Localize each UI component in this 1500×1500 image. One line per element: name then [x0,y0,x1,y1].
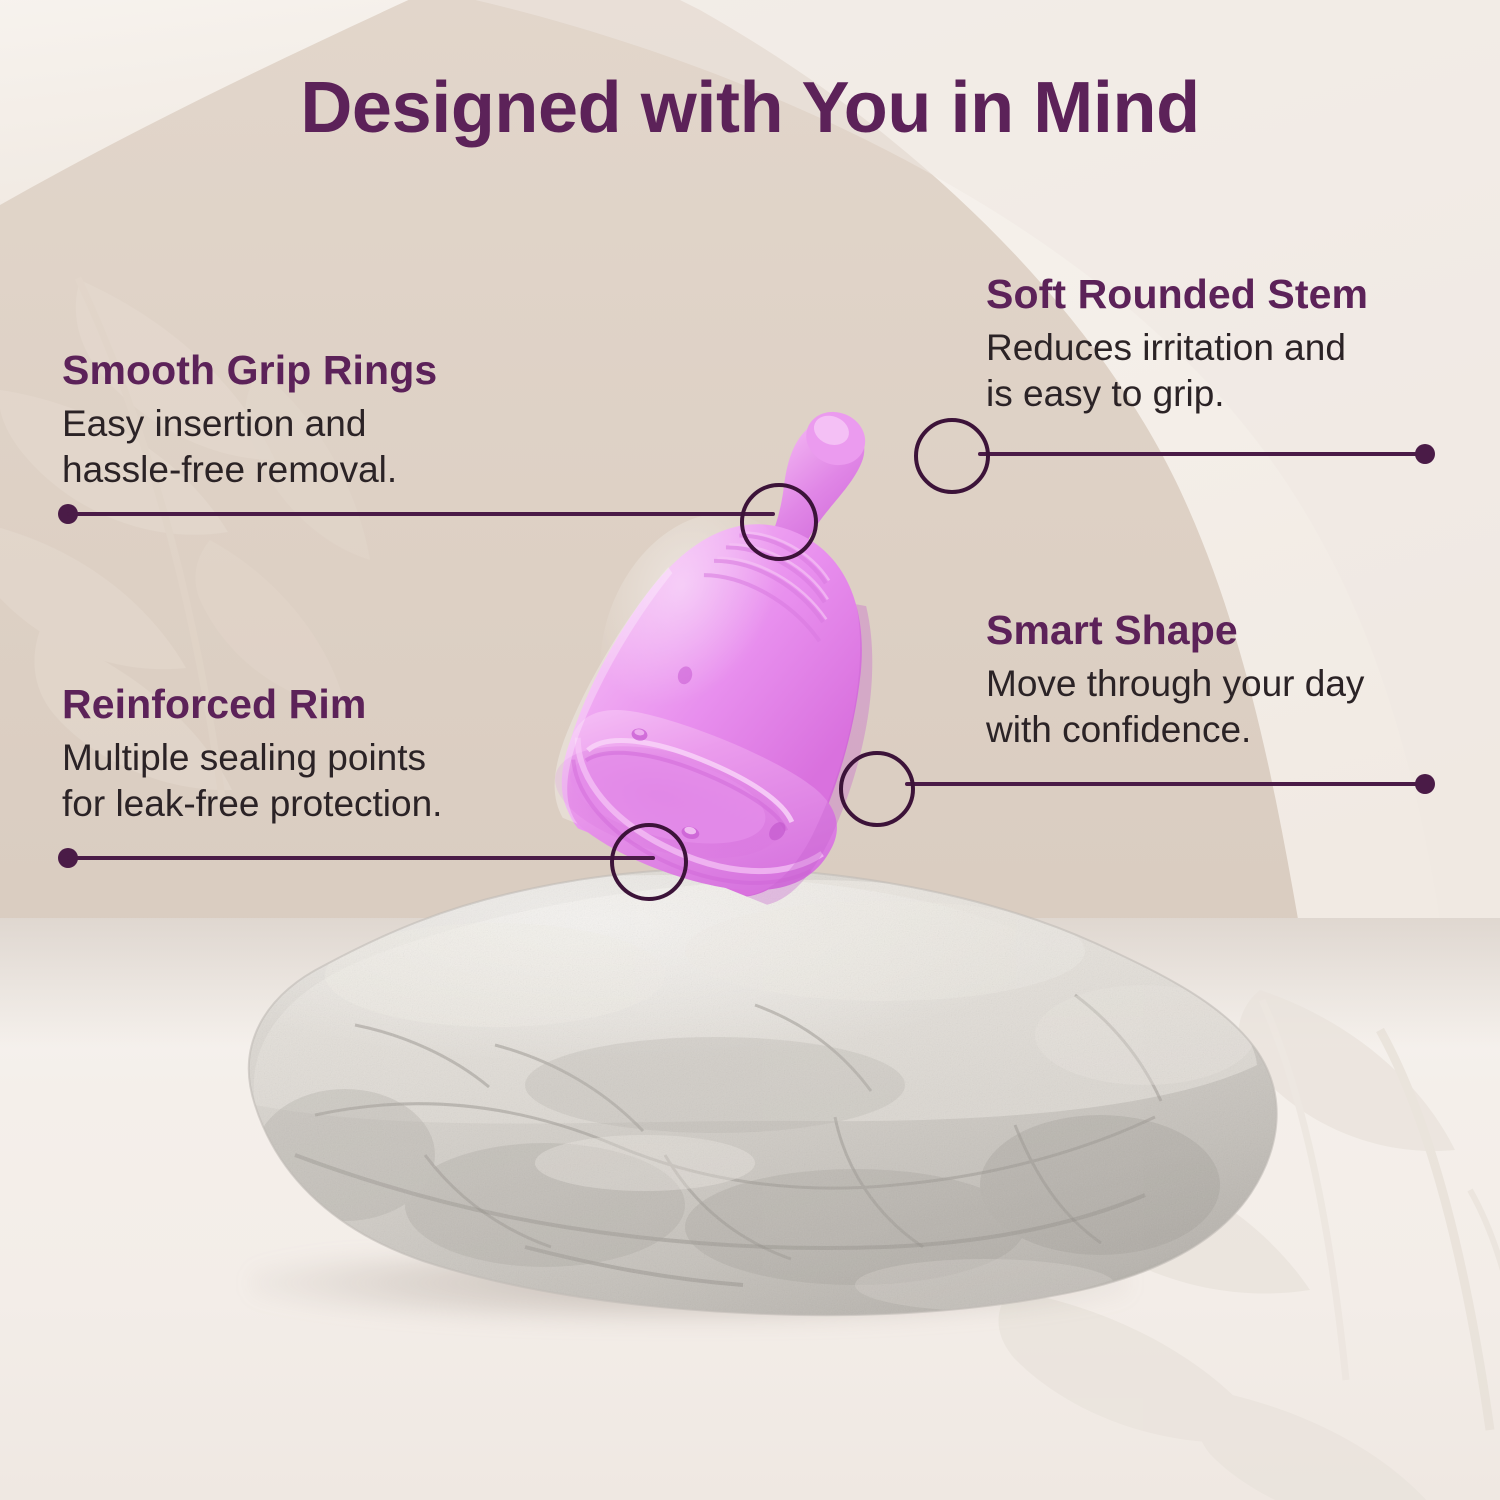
callout-title: Reinforced Rim [62,682,602,726]
leader-soft-rounded-stem [978,441,1436,467]
callout-ring-smart-shape [839,751,915,827]
callout-title: Smooth Grip Rings [62,348,582,392]
callout-body: Reduces irritation and is easy to grip. [986,325,1466,417]
leader-line [67,856,655,860]
callout-title: Soft Rounded Stem [986,272,1466,316]
leader-line [67,512,775,516]
callout-soft-rounded-stem: Soft Rounded Stem Reduces irritation and… [986,272,1466,417]
callout-body: Multiple sealing points for leak-free pr… [62,735,602,827]
infographic-canvas: Designed with You in Mind Smooth Grip Ri… [0,0,1500,1500]
leader-dot [1415,774,1435,794]
callout-smart-shape: Smart Shape Move through your day with c… [986,608,1466,753]
leader-reinforced-rim [58,845,658,871]
callout-title: Smart Shape [986,608,1466,652]
leader-smooth-grip-rings [58,501,778,527]
callout-ring-soft-rounded-stem [914,418,990,494]
callout-ring-smooth-grip-rings [740,483,818,561]
callout-ring-reinforced-rim [610,823,688,901]
callout-body: Easy insertion and hassle-free removal. [62,401,582,493]
callout-body: Move through your day with confidence. [986,661,1466,753]
leader-line [978,452,1426,456]
leader-dot [1415,444,1435,464]
leader-line [905,782,1426,786]
leader-smart-shape [905,771,1436,797]
callout-reinforced-rim: Reinforced Rim Multiple sealing points f… [62,682,602,827]
menstrual-cup-product [520,400,980,960]
page-title: Designed with You in Mind [0,72,1500,144]
callout-smooth-grip-rings: Smooth Grip Rings Easy insertion and has… [62,348,582,493]
